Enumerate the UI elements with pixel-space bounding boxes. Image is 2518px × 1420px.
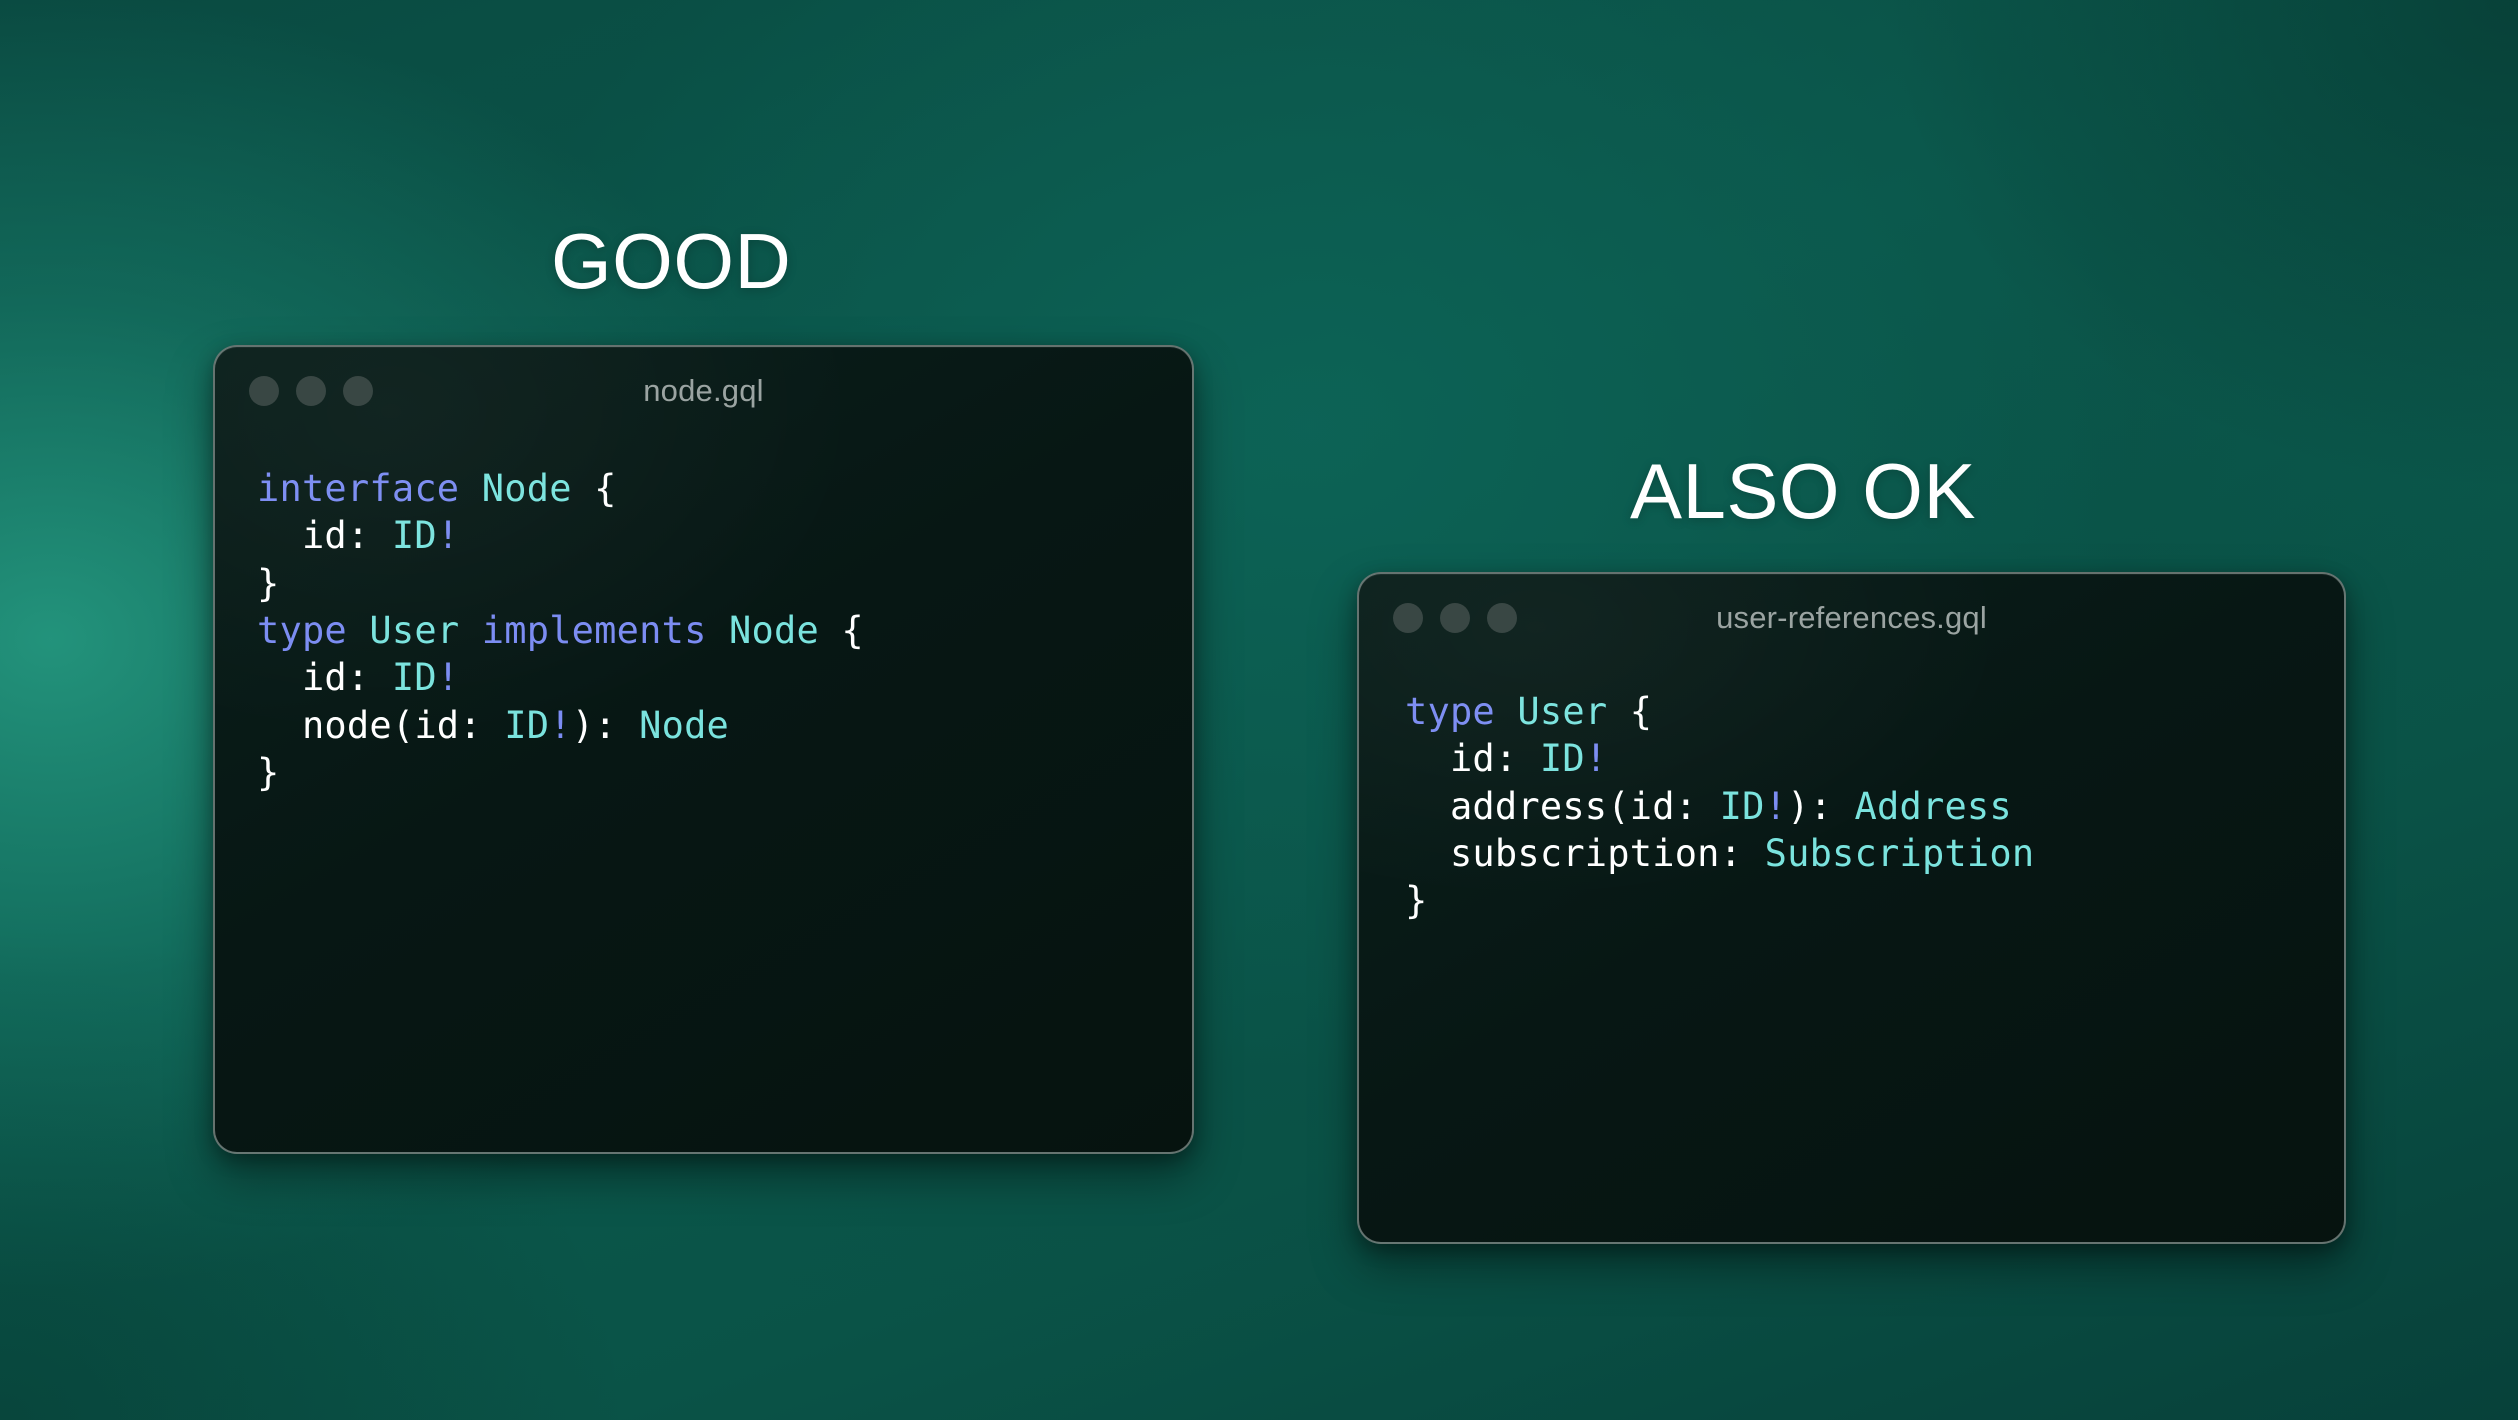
code-token: ): (1787, 785, 1854, 828)
maximize-dot-icon[interactable] (343, 376, 373, 406)
code-token: Subscription (1765, 832, 2035, 875)
close-dot-icon[interactable] (249, 376, 279, 406)
code-token: { (819, 609, 864, 652)
code-token: address(id: (1405, 785, 1720, 828)
code-token: ! (549, 704, 571, 747)
window-controls-also-ok (1393, 603, 1517, 633)
window-titlebar-also-ok: user-references.gql (1359, 574, 2344, 662)
code-window-good[interactable]: node.gql interface Node { id: ID!}type U… (213, 345, 1194, 1154)
caption-also-ok: ALSO OK (1630, 452, 1976, 530)
code-line: id: ID! (257, 654, 1192, 701)
code-token: ! (437, 514, 459, 557)
code-line: } (1405, 877, 2344, 924)
code-token: Node (482, 467, 572, 510)
code-line: subscription: Subscription (1405, 830, 2344, 877)
code-token: User (369, 609, 459, 652)
code-line: } (257, 749, 1192, 796)
code-line: type User implements Node { (257, 607, 1192, 654)
code-token (459, 609, 481, 652)
code-token: Node (729, 609, 819, 652)
close-dot-icon[interactable] (1393, 603, 1423, 633)
code-token (707, 609, 729, 652)
code-window-also-ok[interactable]: user-references.gql type User { id: ID! … (1357, 572, 2346, 1244)
code-line: id: ID! (1405, 735, 2344, 782)
code-token: interface (257, 467, 459, 510)
code-token: subscription: (1405, 832, 1765, 875)
code-token (459, 467, 481, 510)
code-token (1495, 690, 1517, 733)
code-line: address(id: ID!): Address (1405, 783, 2344, 830)
maximize-dot-icon[interactable] (1487, 603, 1517, 633)
code-line: } (257, 560, 1192, 607)
code-line: type User { (1405, 688, 2344, 735)
caption-good: GOOD (551, 222, 791, 300)
minimize-dot-icon[interactable] (1440, 603, 1470, 633)
window-titlebar-good: node.gql (215, 347, 1192, 435)
code-token: ID (392, 514, 437, 557)
code-token: } (257, 751, 279, 794)
code-token: ID (392, 656, 437, 699)
code-block-good: interface Node { id: ID!}type User imple… (215, 435, 1192, 797)
code-token: User (1517, 690, 1607, 733)
code-line: interface Node { (257, 465, 1192, 512)
code-token: ID (1720, 785, 1765, 828)
code-token (347, 609, 369, 652)
code-line: id: ID! (257, 512, 1192, 559)
code-token: ): (572, 704, 639, 747)
code-line: node(id: ID!): Node (257, 702, 1192, 749)
slide-canvas: GOOD node.gql interface Node { id: ID!}t… (0, 0, 2518, 1420)
code-block-also-ok: type User { id: ID! address(id: ID!): Ad… (1359, 662, 2344, 925)
code-token: ID (1540, 737, 1585, 780)
code-token: node(id: (257, 704, 504, 747)
code-token: } (1405, 879, 1427, 922)
code-token: type (257, 609, 347, 652)
code-token: ! (1585, 737, 1607, 780)
code-token: } (257, 562, 279, 605)
code-token: implements (482, 609, 707, 652)
minimize-dot-icon[interactable] (296, 376, 326, 406)
code-token: id: (257, 514, 392, 557)
window-controls-good (249, 376, 373, 406)
code-token: { (572, 467, 617, 510)
code-token: ! (437, 656, 459, 699)
code-token: { (1607, 690, 1652, 733)
code-token: ID (504, 704, 549, 747)
code-token: ! (1765, 785, 1787, 828)
code-token: Node (639, 704, 729, 747)
code-token: id: (257, 656, 392, 699)
code-token: Address (1855, 785, 2012, 828)
code-token: type (1405, 690, 1495, 733)
code-token: id: (1405, 737, 1540, 780)
